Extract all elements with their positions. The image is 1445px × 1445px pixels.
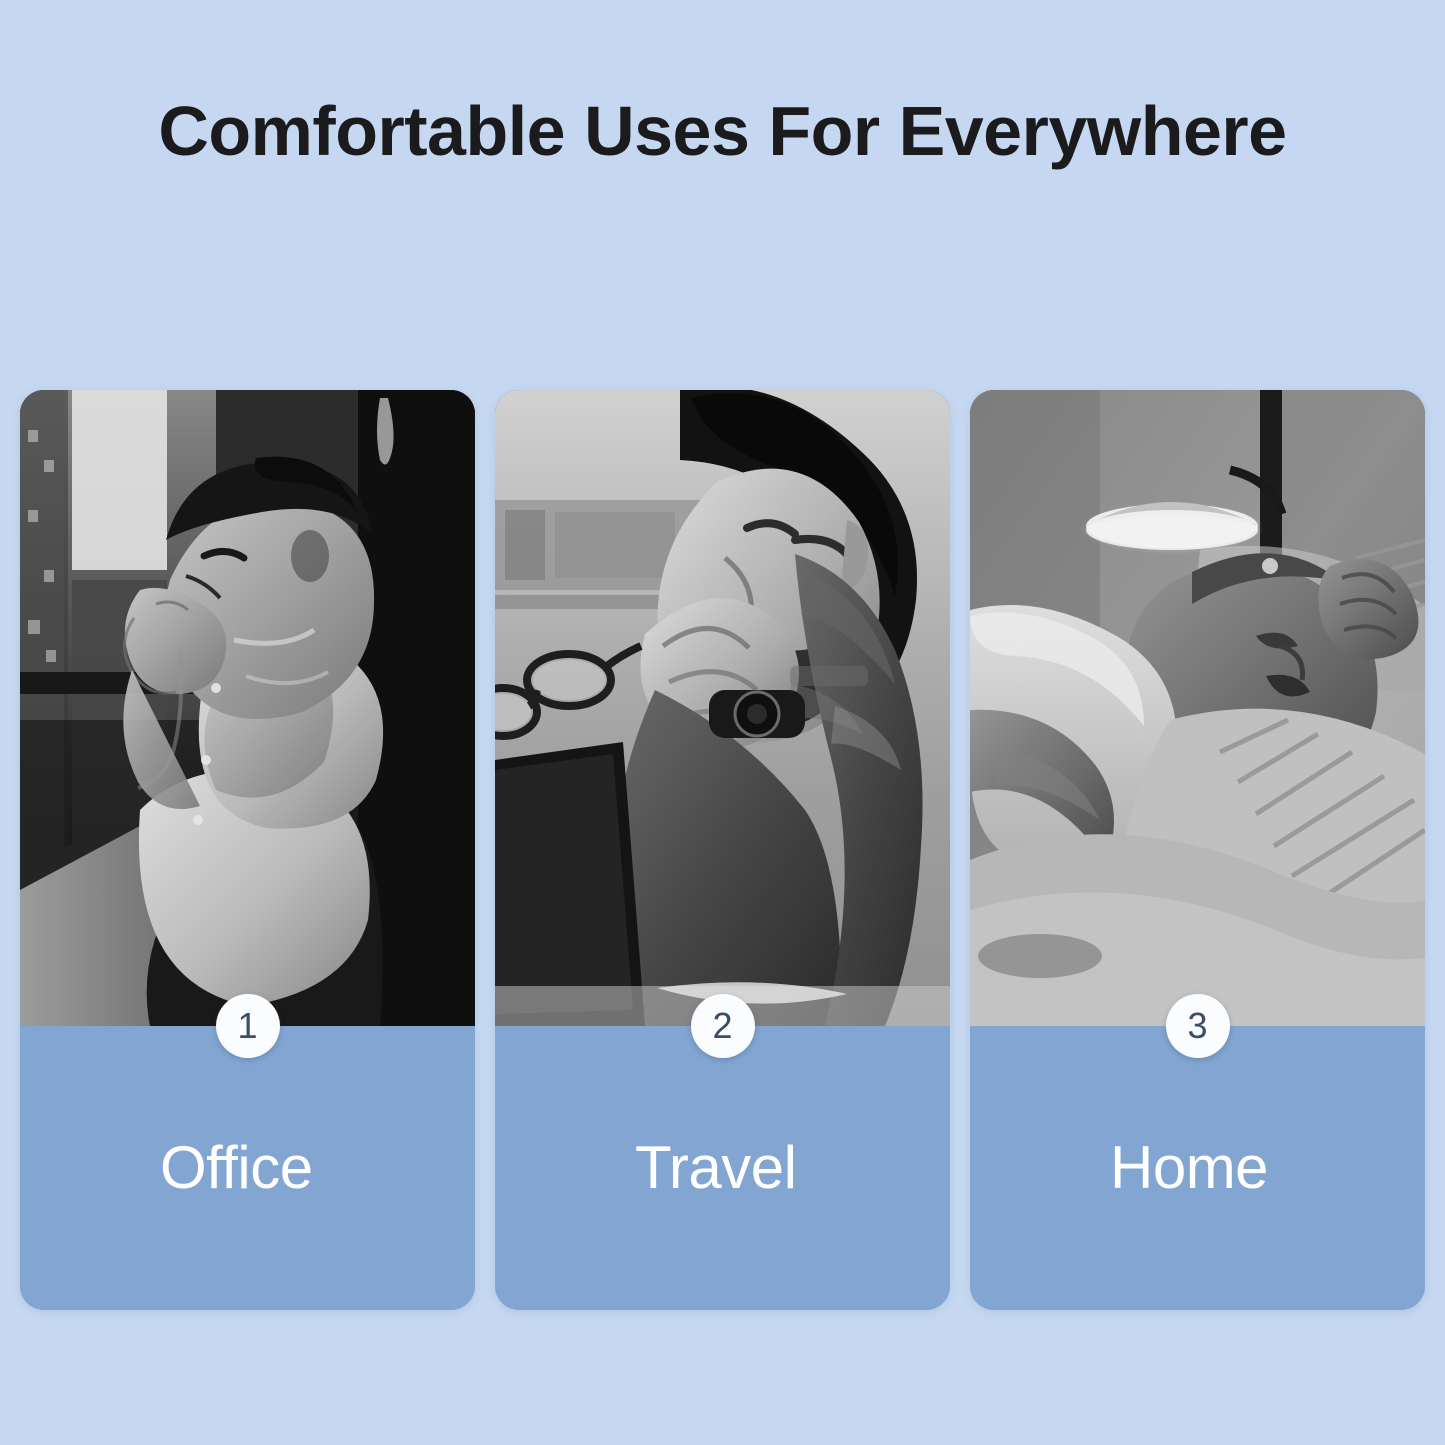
use-case-card-travel[interactable]: Travel 2	[495, 390, 950, 1310]
office-man-rubbing-eyes-photo	[20, 390, 475, 1026]
card-panel: Travel	[495, 1026, 950, 1310]
card-panel: Home	[970, 1026, 1425, 1310]
card-step-badge: 3	[1166, 994, 1230, 1058]
card-clip: Home	[970, 390, 1425, 1310]
page-title: Comfortable Uses For Everywhere	[0, 96, 1445, 166]
card-clip: Travel	[495, 390, 950, 1310]
card-label: Travel	[635, 1138, 796, 1198]
home-man-in-bed-photo	[970, 390, 1425, 1026]
use-case-card-office[interactable]: Office 1	[20, 390, 475, 1310]
card-step-badge: 2	[691, 994, 755, 1058]
travel-man-with-glasses-photo	[495, 390, 950, 1026]
use-case-card-home[interactable]: Home 3	[970, 390, 1425, 1310]
card-step-badge: 1	[216, 994, 280, 1058]
use-case-card-row: Office 1	[20, 390, 1425, 1310]
card-label: Office	[160, 1138, 313, 1198]
card-label: Home	[1110, 1138, 1268, 1198]
card-clip: Office	[20, 390, 475, 1310]
promo-banner: Comfortable Uses For Everywhere	[0, 0, 1445, 1445]
card-panel: Office	[20, 1026, 475, 1310]
